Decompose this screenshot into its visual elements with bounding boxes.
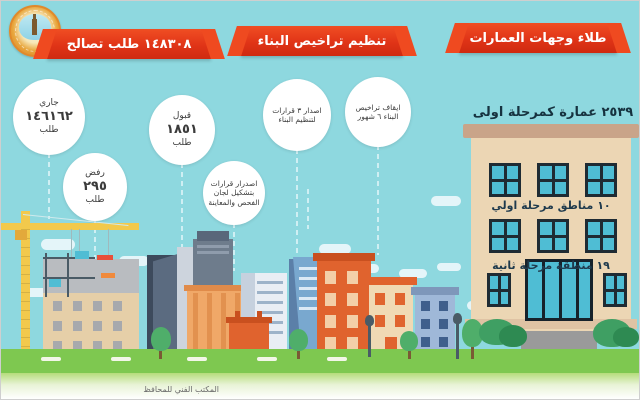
tower-window-row xyxy=(257,281,283,284)
construction-window xyxy=(53,301,62,311)
tower-window-row xyxy=(257,291,283,294)
blue-right-window xyxy=(439,337,448,347)
main-building-side-window xyxy=(603,273,627,307)
bubble-in-progress[interactable]: جاري ١٤٦١٦٢ طلب xyxy=(13,79,85,155)
bubble-number: ٢٩٥ xyxy=(83,179,107,195)
construction-window xyxy=(113,321,122,331)
cloud-icon xyxy=(41,239,75,250)
street-lamp-head xyxy=(365,315,374,326)
construction-material xyxy=(49,279,61,287)
column xyxy=(193,293,198,357)
bush-shape xyxy=(499,325,527,347)
connector-line xyxy=(233,223,235,271)
red-building-window xyxy=(347,315,358,328)
bubble-rejected[interactable]: رفض ٢٩٥ طلب xyxy=(63,153,127,221)
road-marking xyxy=(327,357,347,361)
connector-line xyxy=(296,149,298,267)
cream-building-window xyxy=(375,293,385,305)
scaffold-post xyxy=(45,253,47,297)
tower-grey-cap xyxy=(197,231,229,241)
construction-window xyxy=(113,301,122,311)
bubble-unit: طلب xyxy=(86,196,105,206)
banner-reconciliation[interactable]: ١٤٨٣٠٨ طلب تصالح xyxy=(47,29,211,59)
red-building-window xyxy=(347,271,358,284)
tree-foliage xyxy=(151,327,171,351)
bubble-text: اصدرار قرارات بتشكيل لجان الفحص والمعاين… xyxy=(203,179,265,207)
road-marking xyxy=(257,357,277,361)
bubble-three-decisions[interactable]: اصدار ٣ قرارات لتنظيم البناء xyxy=(263,79,331,151)
footer-bar xyxy=(1,373,640,399)
bubble-unit: طلب xyxy=(173,139,192,149)
bubble-inspection-committees[interactable]: اصدرار قرارات بتشكيل لجان الفحص والمعاين… xyxy=(203,161,265,225)
banner-label: تنظيم تراخيص البناء xyxy=(258,34,387,49)
construction-frame xyxy=(43,259,139,293)
building-stats-line1: ١٠ مناطق مرحلة اولي xyxy=(471,199,631,212)
tower-window-row xyxy=(257,301,283,304)
banner-label: طلاء وجهات العمارات xyxy=(469,31,606,46)
chimney xyxy=(257,311,262,319)
blue-right-window xyxy=(439,301,448,311)
street-lamp-pole xyxy=(456,321,459,359)
building-stats-title: ٢٥٣٩ عمارة كمرحلة اولى xyxy=(471,105,635,120)
bush-shape xyxy=(613,327,639,347)
building-blue-right-roof xyxy=(411,287,459,295)
bubble-label: رفض xyxy=(85,168,105,178)
main-building-window xyxy=(489,219,521,253)
chimney xyxy=(235,311,240,319)
main-building-side-window xyxy=(487,273,511,307)
crane-counterweight xyxy=(1,223,23,230)
main-building-window xyxy=(537,163,569,197)
main-building-window xyxy=(585,163,617,197)
tree-foliage xyxy=(400,331,418,351)
blue-right-window xyxy=(421,337,430,347)
construction-material xyxy=(97,255,113,260)
blue-right-window xyxy=(421,301,430,311)
red-building-window xyxy=(347,293,358,306)
red-building-window xyxy=(325,315,336,328)
footer-credit: المكتب الفني للمحافظ xyxy=(143,385,219,394)
bubble-label: قبول xyxy=(173,111,191,121)
tower-grey-stripe xyxy=(197,245,229,248)
construction-window xyxy=(73,321,82,331)
construction-material xyxy=(75,251,89,259)
cloud-icon xyxy=(437,263,461,271)
cream-building-window xyxy=(395,315,405,327)
bubble-accepted[interactable]: قبول ١٨٥١ طلب xyxy=(149,95,215,165)
construction-material xyxy=(101,273,115,278)
bubble-text: ايقاف تراخيص البناء ٦ شهور xyxy=(345,103,411,122)
cream-building-window xyxy=(395,293,405,305)
street-lamp-head xyxy=(453,313,462,324)
bubble-unit: طلب xyxy=(40,126,59,136)
grass-strip xyxy=(1,349,640,373)
bubble-number: ١٨٥١ xyxy=(166,122,198,138)
building-red-tall-roof xyxy=(313,253,375,261)
cloud-icon xyxy=(431,196,461,206)
main-building-window xyxy=(489,163,521,197)
road-marking xyxy=(41,357,61,361)
column xyxy=(207,293,212,357)
crane-cabin xyxy=(15,230,27,240)
tree-foliage xyxy=(289,329,308,351)
infographic-canvas: ١٤٨٣٠٨ طلب تصالح تنظيم تراخيص البناء طلا… xyxy=(0,0,640,400)
construction-window xyxy=(93,301,102,311)
construction-window xyxy=(93,321,102,331)
connector-line xyxy=(48,153,50,219)
building-orange-cornice xyxy=(184,285,246,291)
blue-right-window xyxy=(439,319,448,329)
construction-window xyxy=(73,301,82,311)
crane-mast xyxy=(21,229,30,357)
building-stats-line2: ١٩ منطقة مرحلة ثانية xyxy=(471,259,631,272)
blue-right-window xyxy=(421,319,430,329)
bubble-number: ١٤٦١٦٢ xyxy=(25,109,73,125)
tower-grey-stripe xyxy=(197,251,229,254)
street-lamp-pole xyxy=(368,323,371,357)
banner-label: ١٤٨٣٠٨ طلب تصالح xyxy=(67,37,192,52)
column xyxy=(221,293,226,357)
road-marking xyxy=(187,357,207,361)
connector-line xyxy=(377,145,379,255)
red-building-window xyxy=(325,293,336,306)
banner-facade-painting[interactable]: طلاء وجهات العمارات xyxy=(459,23,617,53)
road-marking xyxy=(111,357,131,361)
connector-line xyxy=(307,189,309,229)
bubble-label: جاري xyxy=(39,98,59,108)
building-red-low-roof xyxy=(226,317,272,323)
scaffold-post xyxy=(67,253,69,297)
main-building-cornice xyxy=(463,124,639,138)
cream-building-window xyxy=(375,315,385,327)
bubble-permit-suspension[interactable]: ايقاف تراخيص البناء ٦ شهور xyxy=(345,77,411,147)
red-building-window xyxy=(325,271,336,284)
construction-window xyxy=(53,321,62,331)
building-cream-roof xyxy=(365,277,417,285)
bubble-text: اصدار ٣ قرارات لتنظيم البناء xyxy=(263,106,331,125)
main-building-window xyxy=(537,219,569,253)
main-building-window xyxy=(585,219,617,253)
banner-building-permits[interactable]: تنظيم تراخيص البناء xyxy=(241,26,403,56)
